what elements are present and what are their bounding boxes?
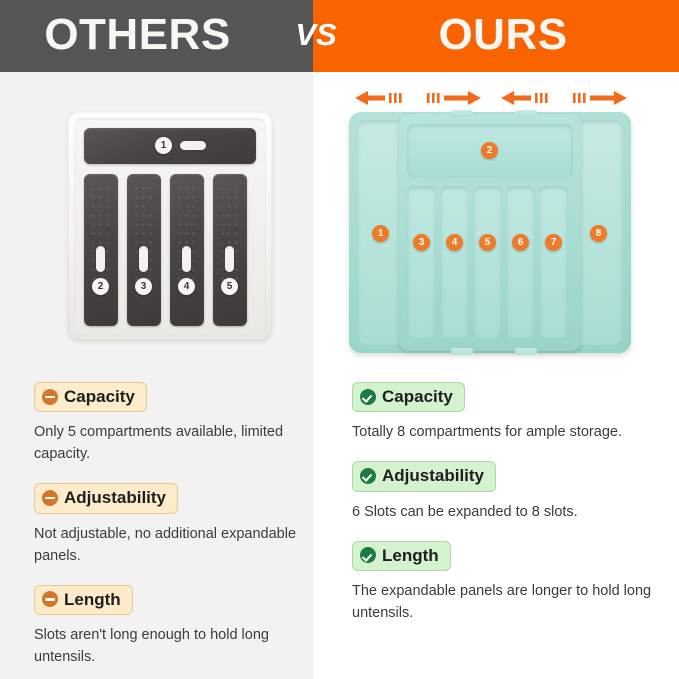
right-number-badge-6: 6 [512,234,529,251]
right-compartment-2: 2 [407,124,573,178]
left-product-image: 1 2 3 4 5 [68,112,272,340]
right-badge-adjustability-label: Adjustability [382,465,484,486]
right-number-badge-5: 5 [479,234,496,251]
left-feature-list: Capacity Only 5 compartments available, … [34,382,304,679]
left-badge-capacity: Capacity [34,382,147,412]
right-compartment-8: 8 [575,120,623,345]
tray-center-body: 2 3 4 5 6 7 [399,114,581,351]
right-number-badge-4: 4 [446,234,463,251]
left-feature-capacity: Capacity Only 5 compartments available, … [34,382,304,465]
right-compartment-5: 5 [473,186,502,338]
right-badge-adjustability: Adjustability [352,461,496,491]
minus-circle-icon [42,490,58,506]
check-circle-icon [360,389,376,405]
left-badge-capacity-label: Capacity [64,386,135,407]
right-compartment-7: 7 [539,186,568,338]
check-circle-icon [360,547,376,563]
right-feature-length: Length The expandable panels are longer … [352,541,652,624]
left-compartment-3: 3 [127,174,161,326]
left-feature-length: Length Slots aren't long enough to hold … [34,585,304,668]
slide-tab [515,348,537,355]
left-compartment-5: 5 [213,174,247,326]
slide-tab [451,110,473,117]
right-compartment-1: 1 [357,120,405,345]
left-compartment-1: 1 [84,128,256,164]
right-badge-capacity-label: Capacity [382,386,453,407]
right-number-badge-2: 2 [481,142,498,159]
comparison-infographic: OTHERS OURS VS 1 2 3 4 5 [0,0,679,679]
right-description-adjustability: 6 Slots can be expanded to 8 slots. [352,501,652,523]
expand-arrow-left-outer [355,90,409,106]
right-number-badge-3: 3 [413,234,430,251]
slide-tab [515,110,537,117]
left-compartment-2: 2 [84,174,118,326]
right-number-badge-8: 8 [590,225,607,242]
expansion-arrows-row [349,90,631,108]
left-number-badge-1: 1 [155,137,172,154]
minus-circle-icon [42,389,58,405]
left-number-badge-4: 4 [178,278,195,295]
left-badge-adjustability-label: Adjustability [64,487,166,508]
left-compartment-4: 4 [170,174,204,326]
left-badge-length-label: Length [64,589,121,610]
slide-tab [451,348,473,355]
left-number-badge-3: 3 [135,278,152,295]
right-compartment-3: 3 [407,186,436,338]
right-number-badge-7: 7 [545,234,562,251]
header-others-title: OTHERS [0,0,313,72]
left-badge-length: Length [34,585,133,615]
right-badge-length-label: Length [382,545,439,566]
check-circle-icon [360,468,376,484]
header-bar: OTHERS OURS VS [0,0,679,72]
grip-handle [96,246,105,272]
left-badge-adjustability: Adjustability [34,483,178,513]
right-badge-capacity: Capacity [352,382,465,412]
left-description-capacity: Only 5 compartments available, limited c… [34,421,304,465]
left-number-badge-5: 5 [221,278,238,295]
grip-handle [180,141,206,150]
grip-handle [139,246,148,272]
right-feature-capacity: Capacity Totally 8 compartments for ampl… [352,382,652,443]
expand-arrow-right-outer [573,90,627,106]
vs-label: VS [290,0,342,72]
right-compartment-6: 6 [506,186,535,338]
expand-arrow-left-inner [427,90,481,106]
right-feature-adjustability: Adjustability 6 Slots can be expanded to… [352,461,652,522]
expand-arrow-right-inner [501,90,555,106]
right-number-badge-1: 1 [372,225,389,242]
grip-handle [225,246,234,272]
left-description-length: Slots aren't long enough to hold long un… [34,624,304,668]
right-product-image: 1 8 2 3 4 5 6 [349,112,631,353]
grip-handle [182,246,191,272]
left-number-badge-2: 2 [92,278,109,295]
right-description-capacity: Totally 8 compartments for ample storage… [352,421,652,443]
right-feature-list: Capacity Totally 8 compartments for ampl… [352,382,652,642]
right-description-length: The expandable panels are longer to hold… [352,580,652,624]
minus-circle-icon [42,591,58,607]
right-badge-length: Length [352,541,451,571]
header-ours-title: OURS [313,0,679,72]
left-feature-adjustability: Adjustability Not adjustable, no additio… [34,483,304,566]
left-description-adjustability: Not adjustable, no additional expandable… [34,523,304,567]
right-compartment-4: 4 [440,186,469,338]
